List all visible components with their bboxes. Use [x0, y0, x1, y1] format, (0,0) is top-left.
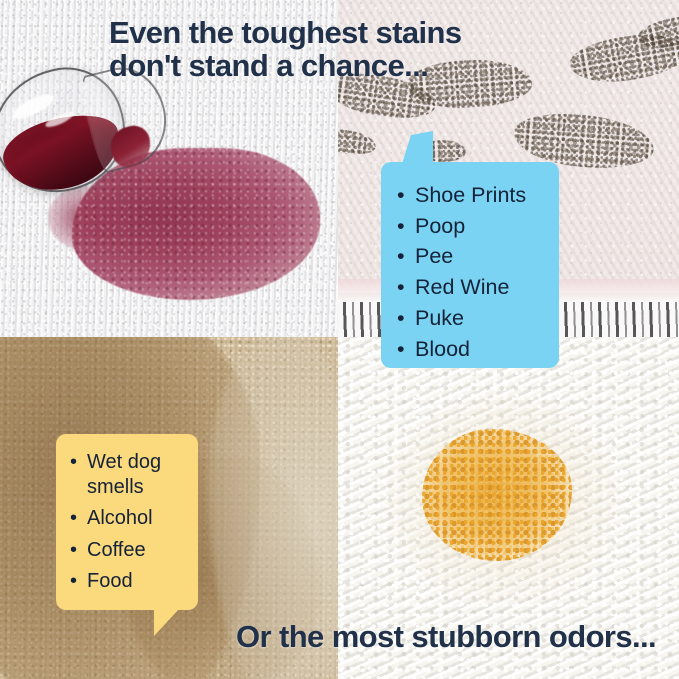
headline-top: Even the toughest stains don't stand a c… — [109, 17, 462, 83]
list-item: Red Wine — [397, 272, 549, 303]
list-item: Food — [70, 569, 190, 594]
callout-odors: Wet dog smells Alcohol Coffee Food — [56, 434, 198, 610]
callout-odors-tail — [154, 608, 180, 636]
list-item: Coffee — [70, 538, 190, 563]
list-item: Blood — [397, 334, 549, 365]
list-item: Poop — [397, 211, 549, 242]
callout-odors-list: Wet dog smells Alcohol Coffee Food — [70, 450, 190, 594]
list-item: Pee — [397, 241, 549, 272]
callout-stains-list: Shoe Prints Poop Pee Red Wine Puke Blood — [397, 180, 549, 364]
callout-stains: Shoe Prints Poop Pee Red Wine Puke Blood — [381, 162, 559, 368]
list-item: Shoe Prints — [397, 180, 549, 211]
headline-bottom: Or the most stubborn odors... — [236, 621, 656, 654]
callout-stains-tail — [401, 131, 433, 167]
list-item: Puke — [397, 303, 549, 334]
list-item: Alcohol — [70, 506, 190, 531]
product-infographic-poster: Even the toughest stains don't stand a c… — [0, 0, 679, 679]
list-item: Wet dog smells — [70, 450, 190, 499]
